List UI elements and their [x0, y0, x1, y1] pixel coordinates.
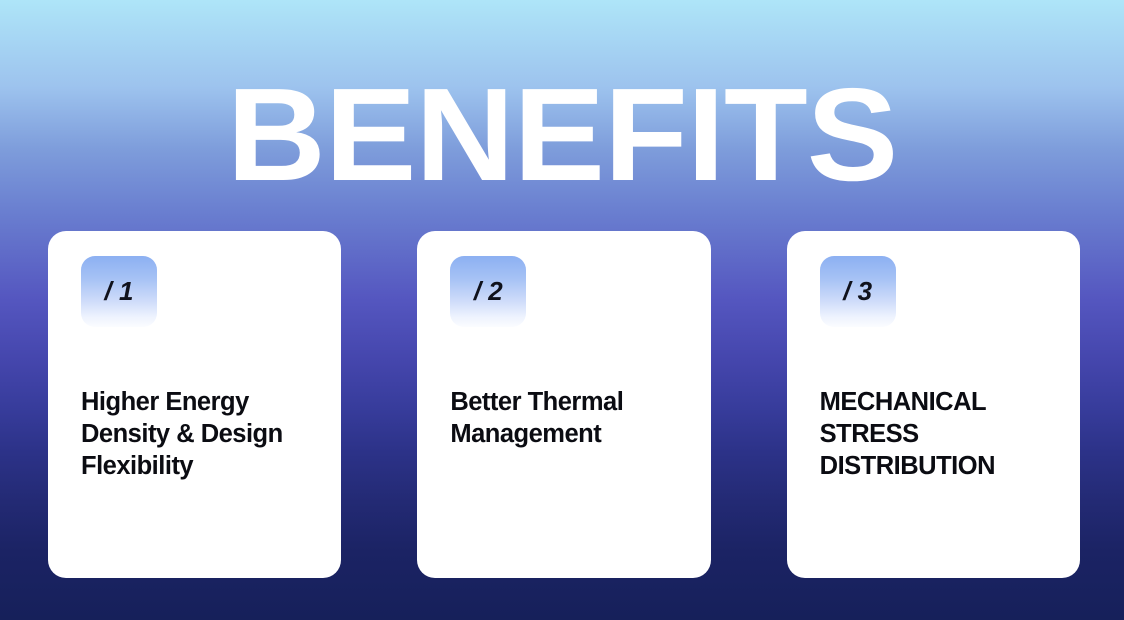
benefit-number-badge-1: / 1: [81, 256, 157, 327]
benefit-number-badge-2: / 2: [450, 256, 526, 327]
page-title: BENEFITS: [0, 69, 1124, 201]
benefit-card-list: / 1 Higher Energy Density & Design Flexi…: [48, 231, 1080, 578]
benefit-card-3[interactable]: / 3 MECHANICAL STRESS DISTRIBUTION: [787, 231, 1080, 578]
benefit-card-2[interactable]: / 2 Better Thermal Management: [417, 231, 710, 578]
benefit-number-label: / 3: [843, 278, 872, 304]
benefit-title-1: Higher Energy Density & Design Flexibili…: [81, 386, 306, 482]
benefit-number-label: / 2: [474, 278, 503, 304]
benefit-card-1[interactable]: / 1 Higher Energy Density & Design Flexi…: [48, 231, 341, 578]
benefits-slide: BENEFITS / 1 Higher Energy Density & Des…: [0, 0, 1124, 620]
benefit-title-2: Better Thermal Management: [450, 386, 675, 450]
benefit-title-3: MECHANICAL STRESS DISTRIBUTION: [820, 386, 1045, 482]
benefit-number-badge-3: / 3: [820, 256, 896, 327]
benefit-number-label: / 1: [105, 278, 134, 304]
